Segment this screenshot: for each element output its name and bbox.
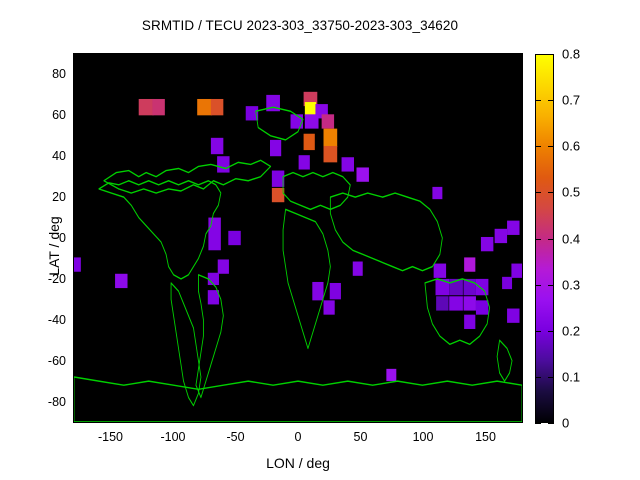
data-cell	[211, 138, 223, 154]
data-cell	[386, 369, 396, 381]
colorbar-tick-mark	[535, 377, 541, 378]
data-cell	[464, 315, 475, 329]
data-cell	[291, 114, 303, 128]
world-map-svg	[74, 54, 522, 422]
y-tick-label: -40	[48, 313, 66, 327]
data-cell	[481, 237, 493, 251]
x-tick-label: 100	[413, 430, 434, 444]
colorbar-tick-label: 0.5	[562, 185, 580, 200]
colorbar-tick-label: 0.3	[562, 277, 580, 292]
data-cell	[115, 274, 127, 288]
y-tick-label: 80	[52, 67, 66, 81]
figure-root: SRMTID / TECU 2023-303_33750-2023-303_34…	[0, 0, 640, 480]
colorbar-tick-mark	[548, 100, 554, 101]
data-cell	[502, 277, 512, 289]
data-cell	[434, 264, 446, 278]
colorbar-tick-mark	[548, 331, 554, 332]
colorbar-tick-label: 0.7	[562, 93, 580, 108]
data-cell	[208, 218, 220, 251]
data-cell	[152, 99, 164, 115]
data-cell	[299, 155, 310, 169]
data-cell	[197, 99, 212, 115]
colorbar-tick-mark	[535, 285, 541, 286]
data-cell	[208, 273, 219, 285]
colorbar-tick-mark	[548, 423, 554, 424]
data-cell	[272, 188, 284, 202]
data-cell	[464, 257, 475, 271]
data-cell	[324, 300, 335, 314]
x-tick-label: 150	[475, 430, 496, 444]
data-cell	[305, 102, 316, 116]
x-tick-label: 50	[354, 430, 368, 444]
colorbar-tick-label: 0.4	[562, 231, 580, 246]
data-cell	[217, 156, 229, 172]
data-cell	[353, 262, 363, 276]
data-cell	[476, 279, 488, 295]
data-cell	[208, 290, 219, 304]
data-cell	[139, 99, 154, 115]
data-cell	[270, 140, 281, 156]
coastline-layer	[74, 107, 522, 422]
colorbar-tick-label: 0.1	[562, 369, 580, 384]
colorbar-tick-mark	[535, 54, 541, 55]
data-cell	[511, 264, 522, 278]
data-cell	[324, 146, 338, 162]
y-tick-label: 60	[52, 108, 66, 122]
colorbar-tick-label: 0.6	[562, 139, 580, 154]
data-cell	[74, 257, 81, 271]
data-cell	[449, 296, 463, 310]
data-cell	[436, 279, 450, 295]
data-cell	[507, 221, 519, 235]
y-tick-label: 40	[52, 149, 66, 163]
data-cell	[356, 167, 368, 181]
colorbar-tick-mark	[548, 377, 554, 378]
data-cell	[272, 171, 284, 187]
data-cell	[304, 134, 315, 150]
colorbar-tick-mark	[548, 239, 554, 240]
colorbar-tick-label: 0	[562, 416, 569, 431]
data-cell	[432, 187, 442, 199]
colorbar-tick-mark	[535, 423, 541, 424]
colorbar-tick-mark	[535, 146, 541, 147]
x-axis-label: LON / deg	[73, 455, 523, 471]
data-cell-layer	[74, 92, 522, 381]
data-cell	[305, 114, 319, 128]
colorbar-tick-mark	[548, 146, 554, 147]
data-cell	[330, 283, 341, 299]
data-cell	[218, 259, 229, 273]
x-tick-label: 0	[295, 430, 302, 444]
data-cell	[436, 296, 448, 310]
x-tick-label: -50	[226, 430, 244, 444]
y-axis-label: LAT / deg	[46, 186, 62, 306]
colorbar-tick-mark	[535, 331, 541, 332]
colorbar-tick-label: 0.8	[562, 47, 580, 62]
map-plot-area[interactable]	[73, 53, 523, 423]
data-cell	[322, 114, 334, 128]
y-tick-label: -80	[48, 395, 66, 409]
x-tick-label: -100	[160, 430, 185, 444]
data-cell	[211, 99, 223, 115]
data-cell	[342, 157, 354, 171]
data-cell	[464, 296, 476, 310]
colorbar-tick-mark	[535, 192, 541, 193]
data-cell	[228, 231, 240, 245]
colorbar-tick-mark	[548, 54, 554, 55]
data-cell	[324, 129, 338, 147]
colorbar-tick-mark	[548, 192, 554, 193]
colorbar-tick-mark	[548, 285, 554, 286]
colorbar-tick-mark	[535, 100, 541, 101]
data-cell	[507, 309, 519, 323]
page-title: SRMTID / TECU 2023-303_33750-2023-303_34…	[0, 18, 600, 33]
colorbar-tick-mark	[535, 239, 541, 240]
y-tick-label: -60	[48, 354, 66, 368]
colorbar-tick-label: 0.2	[562, 323, 580, 338]
data-cell	[495, 229, 507, 243]
data-cell	[312, 282, 323, 300]
data-cell	[476, 300, 488, 314]
x-tick-label: -150	[98, 430, 123, 444]
